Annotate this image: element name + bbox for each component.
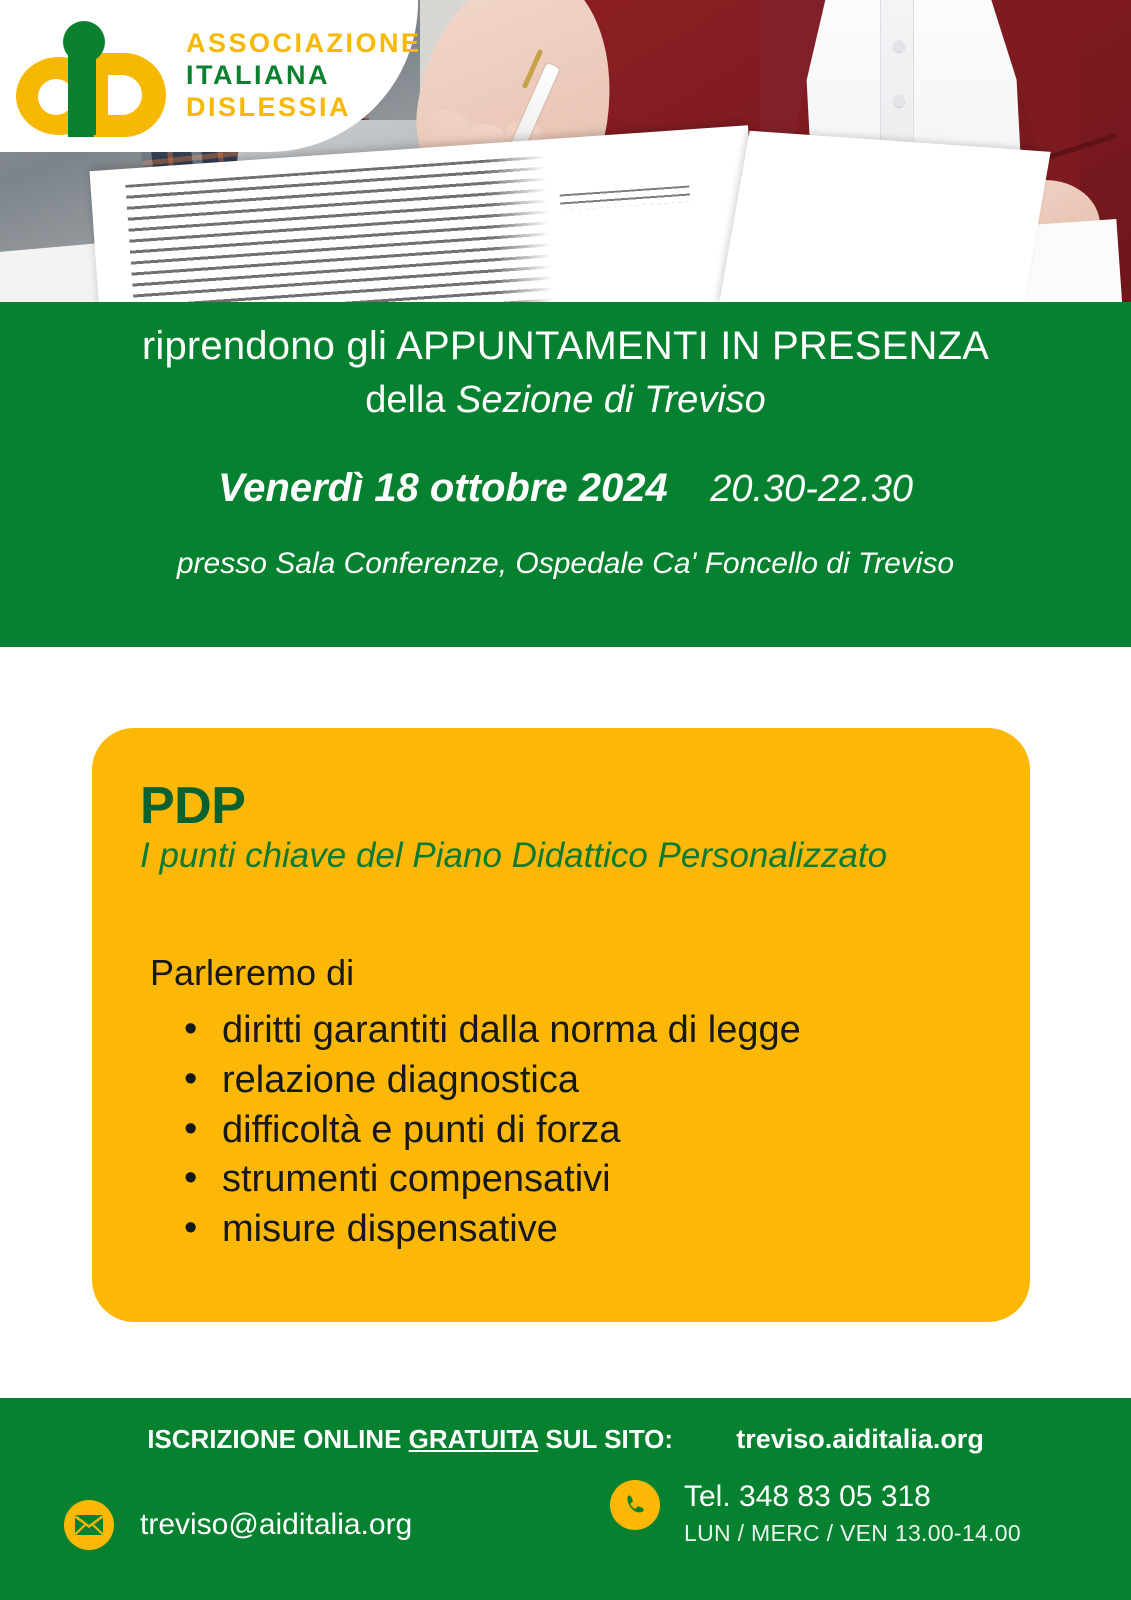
registration-website-link[interactable]: treviso.aiditalia.org xyxy=(736,1424,984,1454)
email-contact[interactable]: treviso@aiditalia.org xyxy=(64,1500,412,1550)
photo-shirt-button xyxy=(893,95,905,107)
topic-subtitle: I punti chiave del Piano Didattico Perso… xyxy=(140,836,887,876)
banner-section-line: della Sezione di Treviso xyxy=(0,379,1131,422)
list-item: misure dispensative xyxy=(184,1205,801,1255)
banner-section-prefix: della xyxy=(365,379,456,421)
list-item: difficoltà e punti di forza xyxy=(184,1106,801,1156)
registration-free-label: GRATUITA xyxy=(409,1424,539,1454)
logo-person-head xyxy=(63,21,105,63)
event-date: Venerdì 18 ottobre 2024 xyxy=(218,466,668,510)
photo-paper-held xyxy=(719,131,1050,302)
list-item: relazione diagnostica xyxy=(184,1056,801,1106)
contacts-row: treviso@aiditalia.org Tel. 348 83 05 318… xyxy=(0,1480,1131,1600)
photo-shirt-button xyxy=(893,40,905,52)
topic-card: PDP I punti chiave del Piano Didattico P… xyxy=(92,728,1030,1322)
event-venue: presso Sala Conferenze, Ospedale Ca' Fon… xyxy=(0,547,1131,581)
topic-title: PDP xyxy=(140,776,245,836)
phone-icon xyxy=(610,1480,660,1530)
topic-bullet-list: diritti garantiti dalla norma di legge r… xyxy=(184,1006,801,1255)
contact-footer: ISCRIZIONE ONLINE GRATUITA SUL SITO: tre… xyxy=(0,1398,1131,1600)
registration-line: ISCRIZIONE ONLINE GRATUITA SUL SITO: tre… xyxy=(0,1424,1131,1455)
phone-hours: LUN / MERC / VEN 13.00-14.00 xyxy=(684,1520,1021,1547)
envelope-icon xyxy=(64,1500,114,1550)
logo-wordmark: ASSOCIAZIONE ITALIANA DISLESSIA xyxy=(186,28,422,124)
banner-date-row: Venerdì 18 ottobre 2024 20.30-22.30 xyxy=(0,466,1131,511)
list-item: diritti garantiti dalla norma di legge xyxy=(184,1006,801,1056)
logo-line-italiana: ITALIANA xyxy=(186,60,422,92)
logo-line-associazione: ASSOCIAZIONE xyxy=(186,28,422,60)
email-address[interactable]: treviso@aiditalia.org xyxy=(140,1508,412,1542)
topic-intro: Parleremo di xyxy=(150,952,354,994)
phone-details: Tel. 348 83 05 318 LUN / MERC / VEN 13.0… xyxy=(684,1480,1021,1547)
banner-headline: riprendono gli APPUNTAMENTI IN PRESENZA xyxy=(0,302,1131,369)
event-time: 20.30-22.30 xyxy=(710,468,913,510)
registration-prefix: ISCRIZIONE ONLINE xyxy=(147,1424,408,1454)
logo-line-dislessia: DISLESSIA xyxy=(186,92,422,124)
phone-contact[interactable]: Tel. 348 83 05 318 LUN / MERC / VEN 13.0… xyxy=(610,1480,1021,1547)
list-item: strumenti compensativi xyxy=(184,1155,801,1205)
logo-letter-i-stem xyxy=(72,55,96,135)
banner-section-name: Sezione di Treviso xyxy=(456,379,766,421)
phone-number[interactable]: Tel. 348 83 05 318 xyxy=(684,1480,1021,1514)
registration-suffix: SUL SITO: xyxy=(538,1424,673,1454)
aid-logo-icon xyxy=(8,15,170,137)
event-banner: riprendono gli APPUNTAMENTI IN PRESENZA … xyxy=(0,302,1131,647)
